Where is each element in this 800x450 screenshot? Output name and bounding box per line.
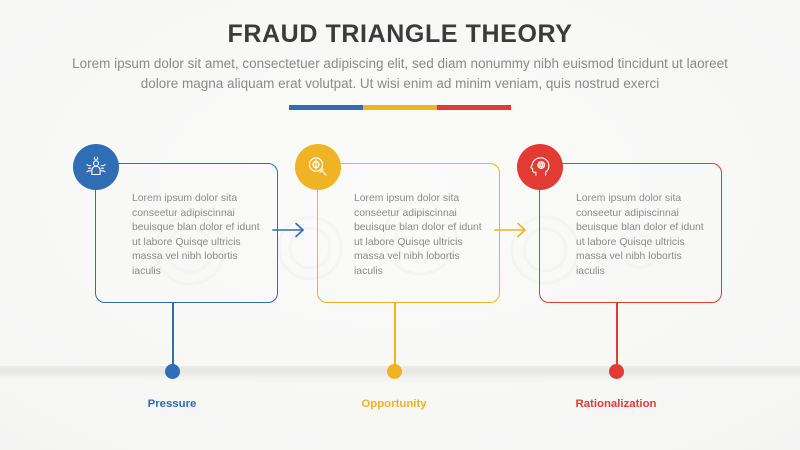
stem-opportunity bbox=[394, 302, 396, 368]
arrow-pressure-to-opportunity bbox=[272, 221, 312, 239]
dot-rationalization bbox=[609, 364, 624, 379]
arrow-opportunity-to-rationalization bbox=[494, 221, 534, 239]
color-bar-segment-red bbox=[437, 105, 511, 110]
card-body-opportunity: Lorem ipsum dolor sita conseetur adipisc… bbox=[354, 192, 489, 280]
color-bar-segment-yellow bbox=[363, 105, 437, 110]
card-body-pressure: Lorem ipsum dolor sita conseetur adipisc… bbox=[132, 192, 267, 280]
bubble-rationalization[interactable] bbox=[517, 144, 563, 190]
card-opportunity[interactable]: Lorem ipsum dolor sita conseetur adipisc… bbox=[317, 163, 500, 303]
dot-opportunity bbox=[387, 364, 402, 379]
head-brain-icon bbox=[527, 154, 553, 180]
step-label-opportunity: Opportunity bbox=[294, 398, 494, 410]
stem-pressure bbox=[172, 302, 174, 368]
card-rationalization[interactable]: Lorem ipsum dolor sita conseetur adipisc… bbox=[539, 163, 722, 303]
page-title: FRAUD TRIANGLE THEORY bbox=[0, 20, 800, 49]
dot-pressure bbox=[165, 364, 180, 379]
stem-rationalization bbox=[616, 302, 618, 368]
bubble-pressure[interactable] bbox=[73, 144, 119, 190]
accent-color-bar bbox=[289, 105, 511, 110]
step-label-pressure: Pressure bbox=[72, 398, 272, 410]
step-label-rationalization: Rationalization bbox=[516, 398, 716, 410]
infographic-canvas: FRAUD TRIANGLE THEORY Lorem ipsum dolor … bbox=[0, 0, 800, 450]
card-pressure[interactable]: Lorem ipsum dolor sita conseetur adipisc… bbox=[95, 163, 278, 303]
color-bar-segment-blue bbox=[289, 105, 363, 110]
page-subtitle: Lorem ipsum dolor sit amet, consectetuer… bbox=[56, 54, 744, 94]
bubble-opportunity[interactable] bbox=[295, 144, 341, 190]
person-pressure-icon bbox=[83, 154, 109, 180]
card-body-rationalization: Lorem ipsum dolor sita conseetur adipisc… bbox=[576, 192, 711, 280]
magnifier-icon bbox=[305, 154, 331, 180]
